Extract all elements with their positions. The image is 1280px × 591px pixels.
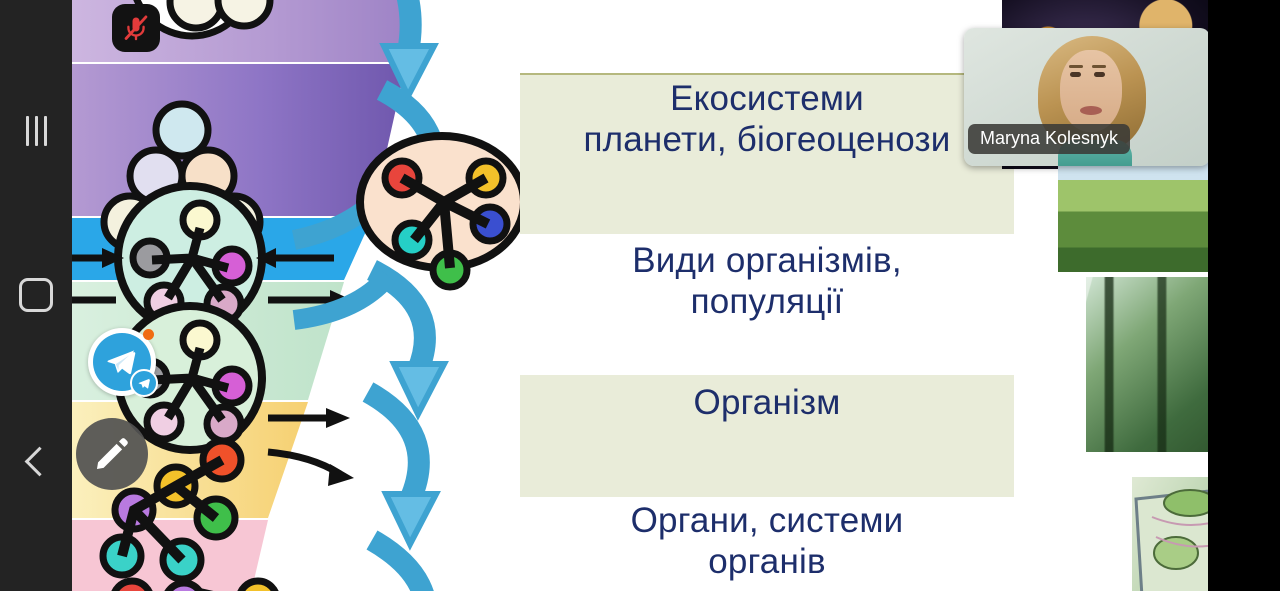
species-line-2: популяції xyxy=(520,281,1014,322)
android-navigation-bar xyxy=(0,0,72,591)
pencil-glyph xyxy=(93,435,131,473)
telegram-icon[interactable] xyxy=(88,328,156,396)
avatar-brow-right xyxy=(1092,65,1106,68)
avatar-brow-left xyxy=(1069,65,1083,68)
levels-of-organization-diagram xyxy=(72,0,432,591)
slide-text-species: Види організмів, популяції xyxy=(520,240,1014,323)
organs-line-1: Органи, системи xyxy=(520,500,1014,541)
back-chevron-icon[interactable] xyxy=(0,431,72,491)
participant-video-tile[interactable]: Maryna Kolesnyk xyxy=(964,28,1210,166)
forest-photo xyxy=(1086,277,1208,452)
organs-line-2: органів xyxy=(520,541,1014,582)
telegram-small-plane-glyph xyxy=(138,377,151,390)
ecosystems-line-2: планети, біогеоценози xyxy=(520,119,1014,160)
meadow-photo xyxy=(1058,160,1208,272)
telegram-secondary-badge xyxy=(130,369,158,397)
avatar-mouth xyxy=(1080,106,1102,115)
home-glyph xyxy=(19,278,53,312)
back-chevron-glyph xyxy=(24,446,54,476)
telegram-unread-dot xyxy=(143,329,154,340)
recent-apps-glyph xyxy=(26,116,47,146)
plant-cell-svg xyxy=(1132,477,1208,591)
avatar-eye-left xyxy=(1070,72,1081,77)
right-letterbox xyxy=(1208,0,1280,591)
microphone-muted-icon[interactable] xyxy=(112,4,160,52)
pencil-icon[interactable] xyxy=(76,418,148,490)
telegram-circle xyxy=(93,333,151,391)
avatar-face xyxy=(1060,50,1122,132)
home-icon[interactable] xyxy=(0,265,72,325)
blue-flow-arrows xyxy=(72,0,532,591)
forest-light-rays xyxy=(1086,277,1208,452)
slide-text-organs: Органи, системи органів xyxy=(520,500,1014,583)
species-line-1: Види організмів, xyxy=(520,240,1014,281)
participant-name-badge: Maryna Kolesnyk xyxy=(968,124,1130,154)
organism-line-1: Організм xyxy=(520,382,1014,423)
slide-text-ecosystems: Екосистеми планети, біогеоценози xyxy=(520,78,1014,161)
avatar-eye-right xyxy=(1094,72,1105,77)
microphone-muted-glyph xyxy=(122,14,150,42)
plant-cell-diagram xyxy=(1132,477,1208,591)
recent-apps-icon[interactable] xyxy=(0,101,72,161)
ecosystems-line-1: Екосистеми xyxy=(520,78,1014,119)
screen-root: Екосистеми планети, біогеоценози Види ор… xyxy=(0,0,1280,591)
slide-text-organism: Організм xyxy=(520,382,1014,423)
